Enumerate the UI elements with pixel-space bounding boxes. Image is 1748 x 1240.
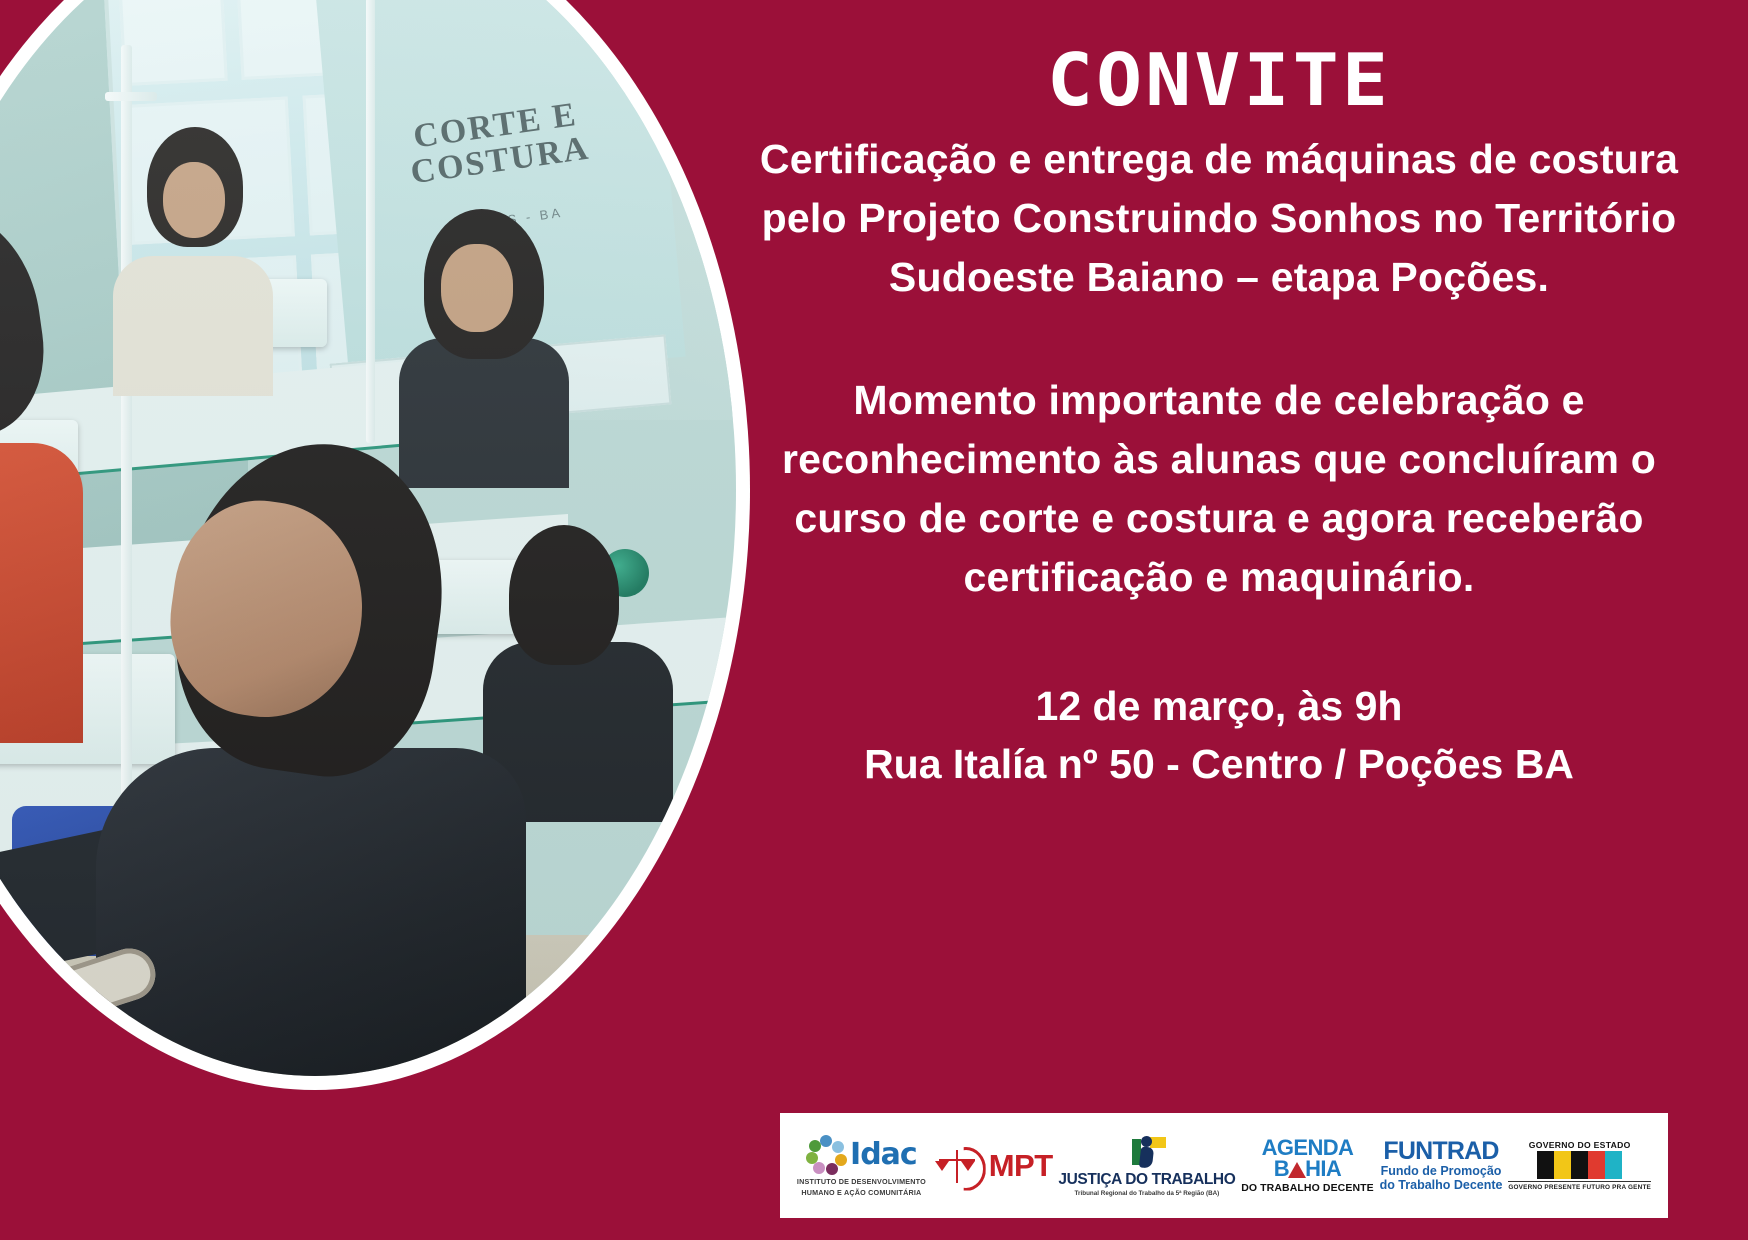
logo-idac: Idac INSTITUTO DE DESENVOLVIMENTO HUMANO…: [797, 1135, 926, 1197]
agenda-line-2: BHIA: [1274, 1158, 1341, 1180]
idac-wordmark: Idac: [850, 1137, 917, 1172]
logo-justica-do-trabalho: JUSTIÇA DO TRABALHO Tribunal Regional do…: [1058, 1135, 1235, 1197]
justica-figure-icon: [1124, 1135, 1170, 1169]
scales-of-justice-icon: [932, 1146, 986, 1186]
event-address: Rua Italía nº 50 - Centro / Poções BA: [716, 735, 1722, 793]
mpt-lockup: MPT: [932, 1146, 1053, 1186]
governo-top-text: GOVERNO DO ESTADO: [1529, 1140, 1631, 1150]
bahia-colorblock-wordmark: B A H I A: [1537, 1151, 1622, 1179]
justica-subtitle: Tribunal Regional do Trabalho da 5ª Regi…: [1075, 1190, 1220, 1197]
agenda-line-1: AGENDA: [1262, 1137, 1354, 1158]
funtrad-subtitle-2: do Trabalho Decente: [1380, 1178, 1503, 1193]
photo-color-overlay: [0, 0, 736, 1076]
idac-tagline-line-2: HUMANO E AÇÃO COMUNITÁRIA: [801, 1188, 921, 1197]
justica-wordmark: JUSTIÇA DO TRABALHO: [1058, 1171, 1235, 1189]
description-paragraph-1: Certificação e entrega de máquinas de co…: [724, 130, 1714, 307]
governo-divider: [1508, 1181, 1651, 1182]
idac-tagline-line-1: INSTITUTO DE DESENVOLVIMENTO: [797, 1177, 926, 1186]
logo-funtrad: FUNTRAD Fundo de Promoção do Trabalho De…: [1380, 1139, 1503, 1193]
classroom-photo: CORTE ECOSTURA POÇÕES - BA: [0, 0, 736, 1076]
agenda-b: B: [1274, 1156, 1289, 1181]
logo-mpt: MPT: [932, 1146, 1053, 1186]
funtrad-subtitle-1: Fundo de Promoção: [1381, 1164, 1502, 1179]
idac-lockup: Idac: [806, 1135, 917, 1175]
triangle-a-icon: [1288, 1162, 1306, 1178]
description-paragraph-2: Momento importante de celebração e recon…: [724, 371, 1714, 607]
invitation-content: CONVITE Certificação e entrega de máquin…: [690, 0, 1748, 1240]
invitation-poster: CORTE ECOSTURA POÇÕES - BA: [0, 0, 1748, 1240]
event-datetime: 12 de março, às 9h: [716, 677, 1722, 735]
idac-flower-icon: [806, 1135, 846, 1175]
sponsor-logo-bar: Idac INSTITUTO DE DESENVOLVIMENTO HUMANO…: [780, 1113, 1668, 1218]
mpt-wordmark: MPT: [989, 1148, 1053, 1184]
agenda-line-3: DO TRABALHO DECENTE: [1241, 1182, 1374, 1194]
logo-governo-bahia: GOVERNO DO ESTADO B A H I A GOVERNO PRES…: [1508, 1140, 1651, 1191]
governo-tagline: GOVERNO PRESENTE FUTURO PRA GENTE: [1508, 1184, 1651, 1191]
event-details: 12 de março, às 9h Rua Italía nº 50 - Ce…: [716, 677, 1722, 793]
logo-agenda-bahia: AGENDA BHIA DO TRABALHO DECENTE: [1241, 1137, 1374, 1194]
funtrad-wordmark: FUNTRAD: [1383, 1139, 1498, 1164]
agenda-hia: HIA: [1305, 1156, 1341, 1181]
photo-circle-frame: CORTE ECOSTURA POÇÕES - BA: [0, 0, 750, 1090]
page-title: CONVITE: [658, 44, 1748, 116]
